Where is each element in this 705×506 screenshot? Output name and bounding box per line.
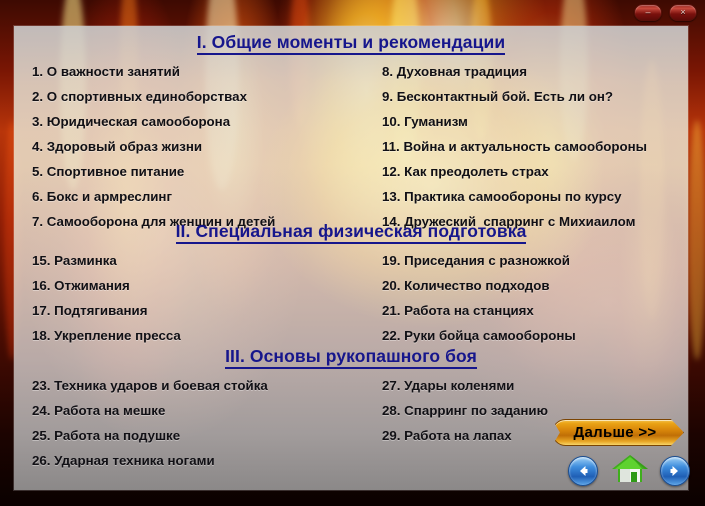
- list-item[interactable]: 27. Удары коленями: [382, 378, 682, 393]
- list-item[interactable]: 1. О важности занятий: [32, 64, 372, 79]
- list-item[interactable]: 3. Юридическая самооборона: [32, 114, 372, 129]
- window-controls: – ×: [634, 4, 697, 21]
- section-1: I. Общие моменты и рекомендации 1. О важ…: [14, 32, 688, 249]
- list-item[interactable]: 5. Спортивное питание: [32, 164, 372, 179]
- list-item[interactable]: 18. Укрепление пресса: [32, 328, 372, 343]
- list-item[interactable]: 20. Количество подходов: [382, 278, 682, 293]
- list-item[interactable]: 16. Отжимания: [32, 278, 372, 293]
- list-item[interactable]: 22. Руки бойца самообороны: [382, 328, 682, 343]
- minimize-button[interactable]: –: [634, 4, 662, 21]
- close-icon: ×: [680, 8, 685, 17]
- back-button[interactable]: [568, 456, 598, 486]
- section-1-title: I. Общие моменты и рекомендации: [14, 32, 688, 55]
- section-2: II. Специальная физическая подготовка 15…: [14, 221, 688, 363]
- app-window: – × I. Общие моменты и рекомендации 1. О…: [0, 0, 705, 506]
- section-2-right-column: 19. Приседания с разножкой 20. Количеств…: [382, 253, 682, 353]
- list-item[interactable]: 28. Спарринг по заданию: [382, 403, 682, 418]
- list-item[interactable]: 11. Война и актуальность самообороны: [382, 139, 682, 154]
- list-item[interactable]: 13. Практика самообороны по курсу: [382, 189, 682, 204]
- list-item[interactable]: 2. О спортивных единоборствах: [32, 89, 372, 104]
- section-1-right-column: 8. Духовная традиция 9. Бесконтактный бо…: [382, 64, 682, 239]
- list-item[interactable]: 15. Разминка: [32, 253, 372, 268]
- list-item[interactable]: 17. Подтягивания: [32, 303, 372, 318]
- arrow-left-icon: [575, 463, 591, 479]
- forward-button[interactable]: [660, 456, 690, 486]
- list-item[interactable]: 21. Работа на станциях: [382, 303, 682, 318]
- list-item[interactable]: 4. Здоровый образ жизни: [32, 139, 372, 154]
- section-2-title: II. Специальная физическая подготовка: [14, 221, 688, 244]
- list-item[interactable]: 12. Как преодолеть страх: [382, 164, 682, 179]
- section-3-title: III. Основы рукопашного боя: [14, 346, 688, 369]
- close-button[interactable]: ×: [669, 4, 697, 21]
- home-icon: [609, 452, 651, 486]
- list-item[interactable]: 9. Бесконтактный бой. Есть ли он?: [382, 89, 682, 104]
- minimize-icon: –: [645, 8, 650, 17]
- list-item[interactable]: 19. Приседания с разножкой: [382, 253, 682, 268]
- list-item[interactable]: 23. Техника ударов и боевая стойка: [32, 378, 372, 393]
- next-button[interactable]: Дальше >>: [552, 419, 684, 446]
- list-item[interactable]: 25. Работа на подушке: [32, 428, 372, 443]
- list-item[interactable]: 26. Ударная техника ногами: [32, 453, 372, 468]
- section-1-left-column: 1. О важности занятий 2. О спортивных ед…: [32, 64, 372, 239]
- list-item[interactable]: 8. Духовная традиция: [382, 64, 682, 79]
- home-button[interactable]: [609, 452, 651, 486]
- next-button-label: Дальше >>: [552, 419, 684, 446]
- arrow-right-icon: [667, 463, 683, 479]
- section-3-left-column: 23. Техника ударов и боевая стойка 24. Р…: [32, 378, 372, 478]
- list-item[interactable]: 6. Бокс и армреслинг: [32, 189, 372, 204]
- list-item[interactable]: 24. Работа на мешке: [32, 403, 372, 418]
- section-2-left-column: 15. Разминка 16. Отжимания 17. Подтягива…: [32, 253, 372, 353]
- list-item[interactable]: 10. Гуманизм: [382, 114, 682, 129]
- navigation-bar: [568, 452, 688, 488]
